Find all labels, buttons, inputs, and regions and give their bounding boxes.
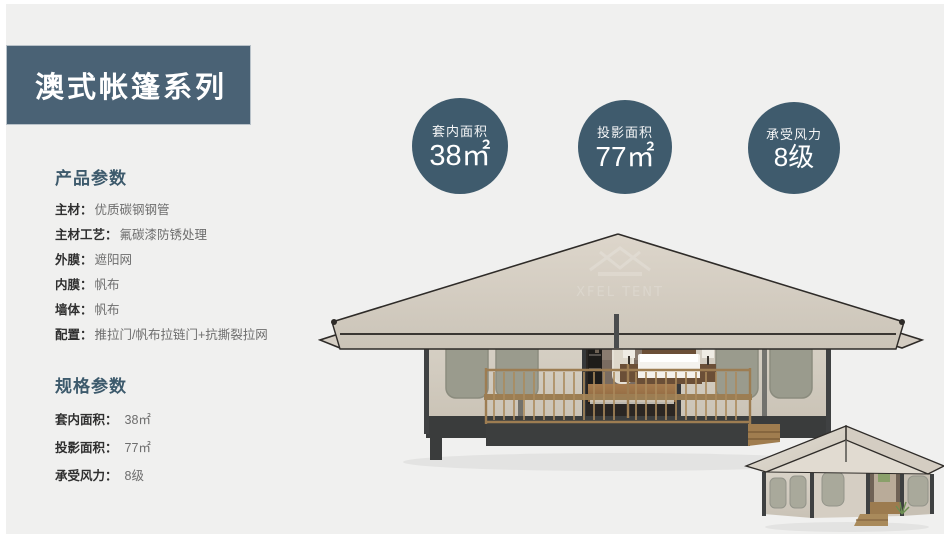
param-value: 帆布 — [95, 278, 120, 292]
metric-circle-wind-resistance: 承受风力 8级 — [748, 102, 840, 194]
param-row: 套内面积：38㎡ — [55, 406, 151, 434]
metric-value: 77㎡ — [595, 142, 654, 171]
title-banner: 澳式帐篷系列 — [6, 45, 251, 125]
param-row: 外膜：遮阳网 — [55, 248, 268, 273]
page-title: 澳式帐篷系列 — [35, 64, 227, 106]
product-parameters-section: 产品参数 主材：优质碳钢钢管 主材工艺：氟碳漆防锈处理 外膜：遮阳网 内膜：帆布… — [55, 164, 268, 348]
slide-surface: 澳式帐篷系列 产品参数 主材：优质碳钢钢管 主材工艺：氟碳漆防锈处理 外膜：遮阳… — [6, 4, 944, 534]
metric-value: 38㎡ — [429, 141, 490, 171]
param-label: 主材： — [55, 203, 93, 217]
param-row: 内膜：帆布 — [55, 273, 268, 298]
secondary-tent-image — [742, 422, 944, 534]
param-label: 墙体： — [55, 303, 93, 317]
param-label: 投影面积： — [55, 441, 118, 455]
product-parameters-heading: 产品参数 — [55, 164, 268, 189]
param-value: 推拉门/帆布拉链门+抗撕裂拉网 — [95, 328, 268, 342]
tent2-window — [822, 472, 844, 506]
nightstand — [700, 364, 716, 382]
metric-circle-projected-area: 投影面积 77㎡ — [578, 100, 672, 194]
param-row: 主材：优质碳钢钢管 — [55, 198, 268, 223]
svg-text:XFEL TENT: XFEL TENT — [576, 285, 664, 300]
param-row: 主材工艺：氟碳漆防锈处理 — [55, 223, 268, 248]
metric-caption: 套内面积 — [432, 121, 488, 140]
deck-base — [486, 416, 750, 446]
param-value: 38㎡ — [125, 413, 151, 427]
param-row: 墙体：帆布 — [55, 298, 268, 323]
tent2-window — [908, 476, 928, 506]
metric-value: 8级 — [774, 144, 814, 171]
param-row: 配置：推拉门/帆布拉链门+抗撕裂拉网 — [55, 323, 268, 348]
param-row: 承受风力：8级 — [55, 462, 151, 490]
metric-circle-interior-area: 套内面积 38㎡ — [412, 98, 508, 194]
param-value: 77㎡ — [125, 441, 151, 455]
param-label: 主材工艺： — [55, 228, 118, 242]
tent2-window — [790, 476, 806, 508]
param-label: 配置： — [55, 328, 93, 342]
param-label: 内膜： — [55, 278, 93, 292]
specification-parameters-heading: 规格参数 — [55, 372, 151, 397]
param-label: 外膜： — [55, 253, 93, 267]
param-value: 帆布 — [95, 303, 120, 317]
slide-canvas: 澳式帐篷系列 产品参数 主材：优质碳钢钢管 主材工艺：氟碳漆防锈处理 外膜：遮阳… — [0, 0, 950, 534]
param-label: 承受风力： — [55, 469, 118, 483]
metric-caption: 承受风力 — [766, 124, 822, 143]
param-label: 套内面积： — [55, 413, 118, 427]
metric-caption: 投影面积 — [597, 122, 653, 141]
param-value: 8级 — [125, 469, 144, 483]
param-value: 氟碳漆防锈处理 — [120, 228, 208, 242]
param-value: 优质碳钢钢管 — [95, 203, 170, 217]
param-value: 遮阳网 — [95, 253, 133, 267]
param-row: 投影面积：77㎡ — [55, 434, 151, 462]
tent2-window — [770, 478, 786, 508]
specification-parameters-section: 规格参数 套内面积：38㎡ 投影面积：77㎡ 承受风力：8级 — [55, 372, 151, 490]
